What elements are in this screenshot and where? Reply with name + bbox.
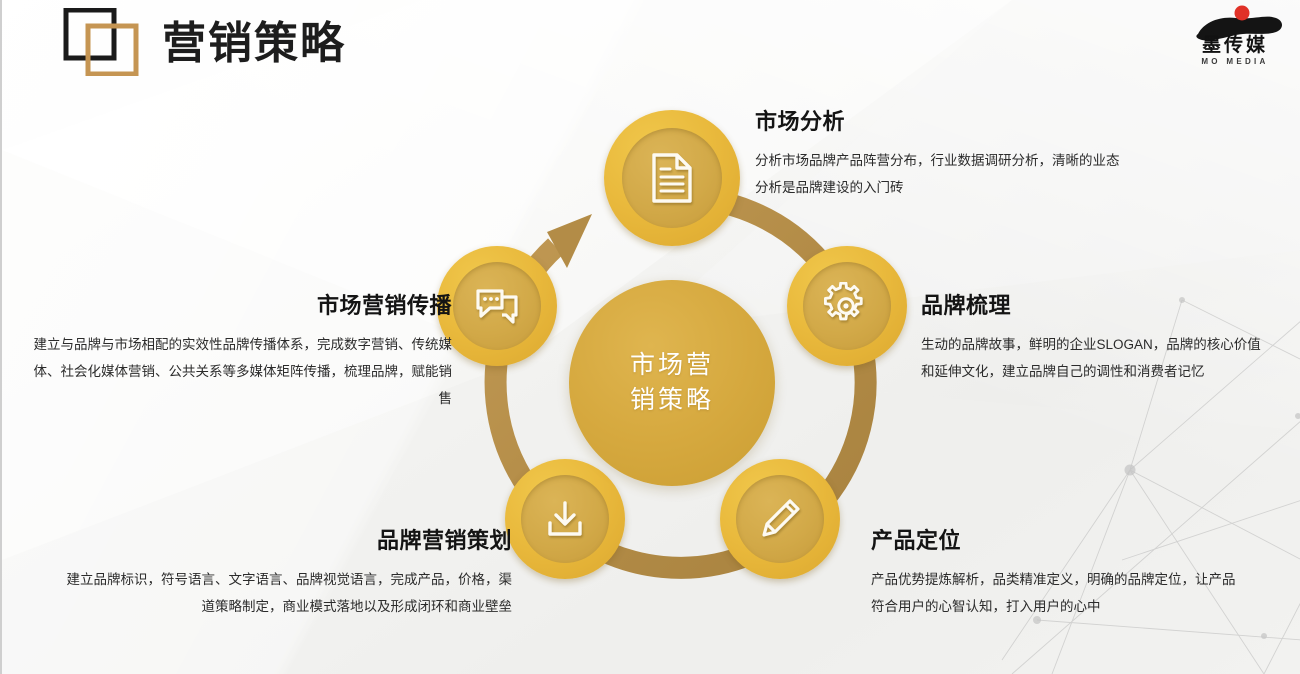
block-body-marketing-communication: 建立与品牌与市场相配的实效性品牌传播体系，完成数字营销、传统媒体、社会化媒体营销… (22, 331, 452, 412)
center-line-2: 销策略 (630, 383, 714, 419)
block-body-product-positioning: 产品优势提炼解析，品类精准定义，明确的品牌定位，让产品符合用户的心智认知，打入用… (871, 566, 1241, 620)
node-brand-combing[interactable] (787, 246, 907, 366)
node-inner-disc (736, 475, 825, 564)
block-brand-planning: 品牌营销策划 建立品牌标识，符号语言、文字语言、品牌视觉语言，完成产品，价格，渠… (62, 523, 512, 620)
block-title-brand-planning: 品牌营销策划 (62, 523, 512, 555)
block-marketing-communication: 市场营销传播 建立与品牌与市场相配的实效性品牌传播体系，完成数字营销、传统媒体、… (22, 288, 452, 412)
block-product-positioning: 产品定位 产品优势提炼解析，品类精准定义，明确的品牌定位，让产品符合用户的心智认… (871, 523, 1241, 620)
slide-canvas: 营销策略 墨传媒 MO MEDIA (0, 0, 1300, 674)
node-brand-planning[interactable] (505, 459, 625, 579)
node-inner-disc (803, 262, 892, 351)
node-inner-disc (622, 128, 723, 229)
block-body-market-analysis: 分析市场品牌产品阵营分布，行业数据调研分析，清晰的业态分析是品牌建设的入门砖 (755, 147, 1125, 201)
node-market-analysis[interactable] (604, 110, 740, 246)
overlapping-squares-logo-icon (62, 8, 154, 76)
block-title-marketing-communication: 市场营销传播 (22, 288, 452, 320)
center-line-1: 市场营 (630, 348, 714, 384)
block-body-brand-planning: 建立品牌标识，符号语言、文字语言、品牌视觉语言，完成产品，价格，渠道策略制定，商… (62, 566, 512, 620)
node-marketing-communication[interactable] (437, 246, 557, 366)
download-tray-icon (540, 495, 590, 543)
block-title-market-analysis: 市场分析 (755, 104, 1125, 136)
block-market-analysis: 市场分析 分析市场品牌产品阵营分布，行业数据调研分析，清晰的业态分析是品牌建设的… (755, 104, 1125, 201)
node-inner-disc (453, 262, 542, 351)
block-body-brand-combing: 生动的品牌故事，鲜明的企业SLOGAN，品牌的核心价值和延伸文化，建立品牌自己的… (921, 331, 1261, 385)
slide-header: 营销策略 墨传媒 MO MEDIA (2, 0, 1300, 92)
node-product-positioning[interactable] (720, 459, 840, 579)
block-title-brand-combing: 品牌梳理 (921, 288, 1261, 320)
document-icon (649, 152, 695, 204)
node-inner-disc (521, 475, 610, 564)
page-title: 营销策略 (162, 7, 346, 71)
gear-icon (823, 282, 871, 330)
block-brand-combing: 品牌梳理 生动的品牌故事，鲜明的企业SLOGAN，品牌的核心价值和延伸文化，建立… (921, 288, 1261, 385)
pencil-icon (756, 495, 804, 543)
chat-bubble-icon (472, 283, 522, 329)
brand-name-en: MO MEDIA (1184, 58, 1286, 66)
brand-name-cn: 墨传媒 (1184, 36, 1286, 55)
center-label-circle: 市场营 销策略 (569, 280, 775, 486)
block-title-product-positioning: 产品定位 (871, 523, 1241, 555)
